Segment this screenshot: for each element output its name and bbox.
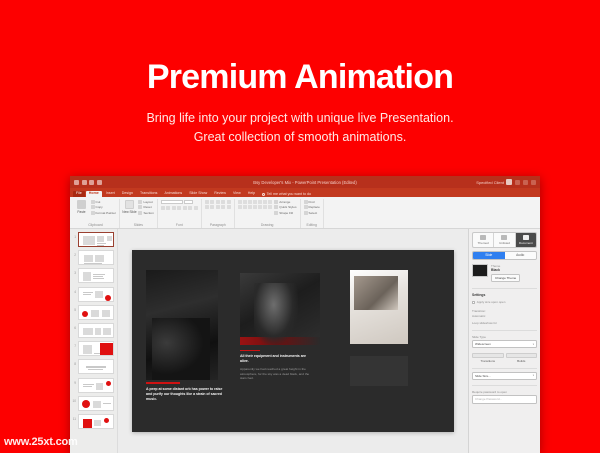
pane-divider xyxy=(472,288,537,289)
theme-row: Theme Black Change Theme xyxy=(472,264,537,283)
segment-slide[interactable]: Slide xyxy=(473,252,505,259)
slide-thumbnail[interactable] xyxy=(78,359,114,374)
present-icon[interactable] xyxy=(97,180,102,185)
builds-label: Builds xyxy=(506,359,538,363)
shape-heart-icon[interactable] xyxy=(268,205,272,209)
reset-button[interactable]: Reset xyxy=(138,205,153,209)
layout-label: Layout xyxy=(143,200,152,204)
align-left-button[interactable] xyxy=(205,205,209,209)
ribbon-group-slides: New Slide Layout Reset Section xyxy=(120,199,158,229)
replace-label: Replace xyxy=(309,205,320,209)
tab-slide-show[interactable]: Slide Show xyxy=(186,191,210,197)
password-label: Require password to open xyxy=(472,390,537,394)
slide-icon xyxy=(501,235,507,240)
shape-arrow-icon[interactable] xyxy=(253,200,257,204)
arrange-icon xyxy=(274,200,278,204)
hero-subtitle-line-2: Great collection of smooth animations. xyxy=(0,128,600,147)
slide-thumbnail[interactable] xyxy=(78,268,114,283)
group-label-paragraph: Paragraph xyxy=(205,223,231,228)
quick-access-toolbar[interactable] xyxy=(74,180,102,185)
watermark: www.25xt.com xyxy=(4,436,78,448)
italic-button[interactable] xyxy=(166,206,170,210)
slide-thumbnail[interactable] xyxy=(78,250,114,265)
replace-button[interactable]: Replace xyxy=(304,205,320,209)
page-title: Premium Animation xyxy=(0,58,600,97)
line-spacing-button[interactable] xyxy=(227,200,231,204)
accent-bar-middle xyxy=(240,350,260,351)
minimize-button[interactable] xyxy=(515,180,520,185)
ribbon-group-editing: Find Replace Select Editing xyxy=(301,199,324,229)
photo-men-in-suits[interactable] xyxy=(146,270,218,380)
title-bar: Bsy Developer's Mix - PowerPoint Present… xyxy=(70,176,540,188)
password-field[interactable]: Require password to open Change Password… xyxy=(472,390,537,403)
reset-icon xyxy=(138,205,142,209)
slide-thumbnail[interactable] xyxy=(78,341,114,356)
chevron-down-icon: ▾ xyxy=(533,374,534,377)
arrange-button[interactable]: Arrange xyxy=(274,200,296,204)
pane-divider-4 xyxy=(472,385,537,386)
slide-dark-block xyxy=(350,356,408,386)
copy-label: Copy xyxy=(96,205,103,209)
slide-number: 2 xyxy=(72,250,76,257)
hero-banner: Premium Animation Bring life into your p… xyxy=(0,0,600,148)
shape-triangle-icon[interactable] xyxy=(248,200,252,204)
group-label-clipboard: Clipboard xyxy=(75,223,116,228)
slide-number: 10 xyxy=(72,396,76,403)
list-item[interactable]: 11 xyxy=(72,414,115,429)
builds-icon xyxy=(506,353,538,358)
photo-hand-writing[interactable] xyxy=(350,270,408,344)
slide-type-value: Widescreen xyxy=(475,342,491,346)
align-right-button[interactable] xyxy=(216,205,220,209)
slide-number: 7 xyxy=(72,341,76,348)
list-item[interactable]: 9 xyxy=(72,378,115,393)
change-theme-button[interactable]: Change Theme xyxy=(491,274,520,282)
hero-subtitle-line-1: Bring life into your project with unique… xyxy=(0,109,600,128)
transitions-button[interactable]: Transitions xyxy=(472,353,504,363)
slide-size-select[interactable]: Slide Size... ▾ xyxy=(472,372,537,380)
theme-value: Black xyxy=(491,268,520,272)
select-label: Select xyxy=(309,211,318,215)
strikethrough-button[interactable] xyxy=(183,206,187,210)
title-bar-right: Specified Client xyxy=(476,179,536,185)
account-area[interactable]: Specified Client xyxy=(476,179,512,185)
list-item[interactable]: 3 xyxy=(72,268,115,283)
shape-oval-icon[interactable] xyxy=(243,200,247,204)
ribbon-group-drawing: Arrange Quick Styles Shape Fill Drawing xyxy=(235,199,301,229)
ribbon-tab-bar[interactable]: File Home Insert Design Transitions Anim… xyxy=(70,188,540,197)
ribbon-body: Paste Cut Copy Format Painter xyxy=(70,197,540,229)
slide-number: 3 xyxy=(72,268,76,275)
underline-button[interactable] xyxy=(172,206,176,210)
format-painter-icon xyxy=(91,211,95,215)
format-painter-label: Format Painter xyxy=(96,211,116,215)
tab-file[interactable]: File xyxy=(73,191,85,197)
pane-button-row[interactable]: Transitions Builds xyxy=(472,353,537,363)
paste-icon xyxy=(77,200,86,209)
find-button[interactable]: Find xyxy=(304,200,320,204)
quick-styles-label: Quick Styles xyxy=(279,205,296,209)
new-slide-button[interactable]: New Slide xyxy=(123,200,136,214)
group-label-editing: Editing xyxy=(304,223,320,228)
select-icon xyxy=(304,211,308,215)
slide-thumbnail[interactable] xyxy=(78,378,114,393)
slide-thumbnail[interactable] xyxy=(78,323,114,338)
transitions-label: Transitions xyxy=(472,359,504,363)
shapes-gallery[interactable] xyxy=(238,200,272,209)
find-icon xyxy=(304,200,308,204)
layout-button[interactable]: Layout xyxy=(138,200,153,204)
pane-tab-themed[interactable]: Themed xyxy=(473,233,494,247)
caption-middle-heading: All their equipment and instruments are … xyxy=(240,354,314,364)
layout-icon xyxy=(138,200,142,204)
redo-icon[interactable] xyxy=(89,180,94,185)
format-painter-button[interactable]: Format Painter xyxy=(91,211,116,215)
maximize-button[interactable] xyxy=(523,180,528,185)
section-button[interactable]: Section xyxy=(138,211,153,215)
avatar[interactable] xyxy=(506,179,512,185)
font-name-input[interactable] xyxy=(161,200,183,205)
paste-label: Paste xyxy=(77,210,85,214)
shape-line-icon[interactable] xyxy=(258,200,262,204)
align-center-button[interactable] xyxy=(210,205,214,209)
slide-thumbnail[interactable] xyxy=(78,305,114,320)
slide-number: 9 xyxy=(72,378,76,385)
current-slide[interactable]: A peep at some distant orb has power to … xyxy=(132,250,454,432)
caption-left-heading: A peep at some distant orb has power to … xyxy=(146,387,226,403)
font-size-input[interactable] xyxy=(184,200,193,205)
loop-label: Loop slideshow for xyxy=(472,321,537,325)
pane-tab-document[interactable]: Document xyxy=(516,233,536,247)
slide-number: 4 xyxy=(72,287,76,294)
shape-fill-button[interactable]: Shape Fill xyxy=(274,211,296,215)
pane-tab-unlisted-label: Unlisted xyxy=(499,241,510,245)
pane-tab-unlisted[interactable]: Unlisted xyxy=(494,233,515,247)
cut-button[interactable]: Cut xyxy=(91,200,116,204)
new-slide-label: New Slide xyxy=(122,210,136,214)
group-label-drawing: Drawing xyxy=(238,223,297,228)
pane-tab-themed-label: Themed xyxy=(478,241,489,245)
ribbon-group-clipboard: Paste Cut Copy Format Painter xyxy=(72,199,120,229)
cut-icon xyxy=(91,200,95,204)
decrease-indent-button[interactable] xyxy=(216,200,220,204)
settings-title: Settings xyxy=(472,293,537,297)
tab-design[interactable]: Design xyxy=(119,191,136,197)
shape-banner-icon[interactable] xyxy=(258,205,262,209)
theme-swatch[interactable] xyxy=(472,264,488,277)
slide-number: 11 xyxy=(72,414,76,421)
builds-button[interactable]: Builds xyxy=(506,353,538,363)
character-spacing-button[interactable] xyxy=(188,206,192,210)
reset-label: Reset xyxy=(143,205,151,209)
transition-label: Transition: xyxy=(472,309,537,313)
shape-star-icon[interactable] xyxy=(263,200,267,204)
select-button[interactable]: Select xyxy=(304,211,320,215)
copy-icon xyxy=(91,205,95,209)
pane-divider-3 xyxy=(472,368,537,369)
ribbon-group-font: Font xyxy=(158,199,202,229)
transition-field[interactable]: Transition: Automatic xyxy=(472,309,537,318)
columns-button[interactable] xyxy=(227,205,231,209)
slide-number: 5 xyxy=(72,305,76,312)
password-input[interactable]: Change Password... xyxy=(472,395,537,403)
slide-type-label: Slide Type xyxy=(472,335,537,339)
shape-plus-icon[interactable] xyxy=(263,205,267,209)
theme-icon xyxy=(480,235,486,240)
document-icon xyxy=(523,235,529,240)
tell-me-box[interactable]: Tell me what you want to do xyxy=(259,191,314,197)
accent-bar-left xyxy=(146,382,180,384)
copy-button[interactable]: Copy xyxy=(91,205,116,209)
find-label: Find xyxy=(309,200,315,204)
shape-pentagon-icon[interactable] xyxy=(238,205,242,209)
theme-label: Theme xyxy=(491,264,520,268)
tab-help[interactable]: Help xyxy=(245,191,258,197)
close-button[interactable] xyxy=(531,180,536,185)
bullets-button[interactable] xyxy=(205,200,209,204)
slide-number: 6 xyxy=(72,323,76,330)
work-area: 1 2 3 xyxy=(70,229,540,453)
transitions-icon xyxy=(472,353,504,358)
undo-icon[interactable] xyxy=(82,180,87,185)
slide-thumbnail[interactable] xyxy=(78,396,114,411)
caption-middle-body: Apparently we had reached a great height… xyxy=(240,367,314,381)
group-label-slides: Slides xyxy=(123,223,154,228)
format-side-pane[interactable]: Themed Unlisted Document Slide Audio Th xyxy=(468,229,540,453)
increase-indent-button[interactable] xyxy=(221,200,225,204)
quick-styles-button[interactable]: Quick Styles xyxy=(274,205,296,209)
numbering-button[interactable] xyxy=(210,200,214,204)
list-item[interactable]: 8 xyxy=(72,359,115,374)
pane-divider-2 xyxy=(472,330,537,331)
replace-icon xyxy=(304,205,308,209)
section-icon xyxy=(138,211,142,215)
ribbon-group-paragraph: Paragraph xyxy=(202,199,235,229)
slide-type-select[interactable]: Widescreen ▾ xyxy=(472,340,537,348)
slide-number: 8 xyxy=(72,359,76,366)
caption-left[interactable]: A peep at some distant orb has power to … xyxy=(146,387,226,403)
hero-subtitle: Bring life into your project with unique… xyxy=(0,109,600,148)
segment-audio[interactable]: Audio xyxy=(505,252,537,259)
shadow-button[interactable] xyxy=(177,206,181,210)
list-item[interactable]: 1 xyxy=(72,232,115,247)
list-item[interactable]: 2 xyxy=(72,250,115,265)
font-color-button[interactable] xyxy=(194,206,198,210)
tab-animations[interactable]: Animations xyxy=(161,191,185,197)
quick-styles-icon xyxy=(274,205,278,209)
chevron-down-icon: ▾ xyxy=(533,343,534,346)
apply-size-checkbox-row[interactable]: Apply size upon open xyxy=(472,300,537,304)
pane-tab-bar[interactable]: Themed Unlisted Document xyxy=(472,232,537,248)
list-item[interactable]: 6 xyxy=(72,323,115,338)
document-title: Bsy Developer's Mix - PowerPoint Present… xyxy=(70,180,540,185)
save-icon[interactable] xyxy=(74,180,79,185)
shape-cylinder-icon[interactable] xyxy=(248,205,252,209)
slide-thumbnail[interactable] xyxy=(78,414,114,429)
list-item[interactable]: 4 xyxy=(72,287,115,302)
transition-value: Automatic xyxy=(472,314,537,318)
slide-thumbnail-panel[interactable]: 1 2 3 xyxy=(70,229,118,453)
shape-fill-label: Shape Fill xyxy=(279,211,293,215)
photo-man-at-desk[interactable] xyxy=(240,273,320,345)
powerpoint-window: Bsy Developer's Mix - PowerPoint Present… xyxy=(70,176,540,453)
slide-number: 1 xyxy=(72,232,76,239)
bold-button[interactable] xyxy=(161,206,165,210)
justify-button[interactable] xyxy=(221,205,225,209)
caption-middle[interactable]: All their equipment and instruments are … xyxy=(240,354,314,381)
list-item[interactable]: 7 xyxy=(72,341,115,356)
shape-rectangle-icon[interactable] xyxy=(238,200,242,204)
group-label-font: Font xyxy=(161,223,198,228)
shape-diamond-icon[interactable] xyxy=(243,205,247,209)
arrange-label: Arrange xyxy=(279,200,290,204)
tab-review[interactable]: Review xyxy=(211,191,229,197)
list-item[interactable]: 10 xyxy=(72,396,115,411)
slide-thumbnail[interactable] xyxy=(78,287,114,302)
shape-callout-icon[interactable] xyxy=(268,200,272,204)
shape-fill-icon xyxy=(274,211,278,215)
paste-button[interactable]: Paste xyxy=(75,200,88,214)
tab-view[interactable]: View xyxy=(230,191,244,197)
slide-type-field[interactable]: Slide Type Widescreen ▾ xyxy=(472,335,537,348)
tab-transitions[interactable]: Transitions xyxy=(137,191,160,197)
tab-insert[interactable]: Insert xyxy=(103,191,118,197)
new-slide-icon xyxy=(125,200,134,209)
list-item[interactable]: 5 xyxy=(72,305,115,320)
pane-tab-document-label: Document xyxy=(519,241,533,245)
slide-thumbnail[interactable] xyxy=(78,232,114,247)
tell-me-label: Tell me what you want to do xyxy=(267,192,311,196)
tab-home[interactable]: Home xyxy=(86,191,102,197)
cut-label: Cut xyxy=(96,200,101,204)
account-name: Specified Client xyxy=(476,180,504,185)
shape-chevron-icon[interactable] xyxy=(253,205,257,209)
slide-size-label: Slide Size... xyxy=(475,374,491,378)
pane-segmented-control[interactable]: Slide Audio xyxy=(472,251,537,260)
apply-size-checkbox[interactable] xyxy=(472,301,475,304)
section-label: Section xyxy=(143,211,153,215)
lightbulb-icon xyxy=(262,193,265,196)
apply-size-label: Apply size upon open xyxy=(477,300,506,304)
slide-canvas-area[interactable]: A peep at some distant orb has power to … xyxy=(118,229,468,453)
